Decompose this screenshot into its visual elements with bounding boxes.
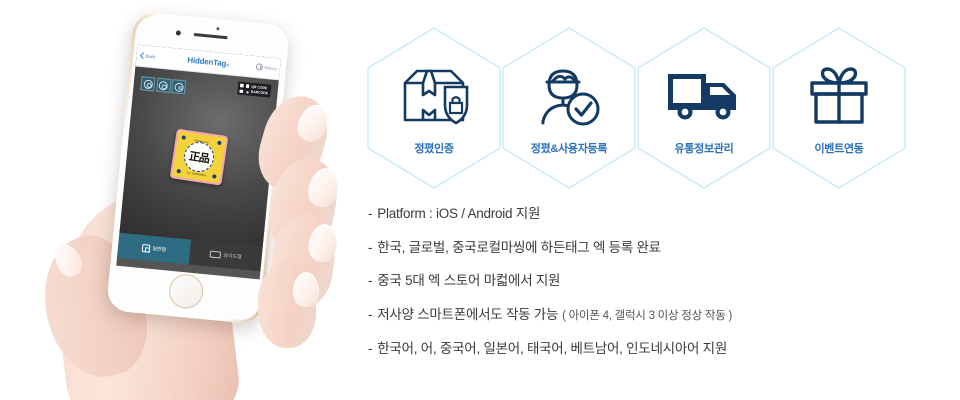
feature-label-authentication: 정폈인증: [366, 140, 502, 156]
spec-dash: -: [368, 240, 372, 256]
finger-nail: [293, 272, 319, 307]
feature-item-distribution[interactable]: 유통정보관리: [636, 26, 772, 190]
spec-text: 저사양 스마트폰에서도 작동 가능: [377, 307, 558, 323]
feature-label-user-registration: 정폈&사용자등록: [501, 140, 637, 156]
spec-note: ( 아이폰 4, 갤럭시 3 이상 정상 작동 ): [562, 308, 732, 324]
spec-item: - 중국 5대 엑 스토어 마컯에서 지원: [368, 273, 948, 289]
spec-dash: -: [368, 307, 372, 323]
hand-fingers: [0, 0, 360, 400]
feature-label-event-link: 이벤트연동: [771, 140, 907, 156]
feature-label-distribution: 유통정보관리: [636, 140, 772, 156]
delivery-truck-icon: [636, 60, 772, 132]
spec-dash: -: [368, 341, 372, 357]
feature-item-event-link[interactable]: 이벤트연동: [771, 26, 907, 190]
spec-item: - 한국, 글로벌, 중국로컬마씽에 하든태그 엑 등록 완료: [368, 240, 948, 256]
spec-list: - Platform : iOS / Android 지원 - 한국, 글로벌,…: [368, 206, 948, 375]
product-feature-page: Back HiddenTag ® History: [0, 0, 960, 400]
spec-item: - Platform : iOS / Android 지원: [368, 206, 948, 222]
spec-item: - 한국어, 어, 중국어, 일본어, 태국어, 베트남어, 인도네시아어 지원: [368, 341, 948, 357]
feature-item-user-registration[interactable]: 정폈&사용자등록: [501, 26, 637, 190]
box-shield-lock-icon: [366, 60, 502, 132]
spec-text: 중국 5대 엑 스토어 마컯에서 지원: [377, 273, 560, 289]
user-check-icon: [501, 60, 637, 132]
feature-hexagon-row: 정폈인증: [366, 26, 926, 194]
gift-box-icon: [771, 60, 907, 132]
spec-dash: -: [368, 273, 372, 289]
spec-dash: -: [368, 206, 372, 222]
spec-text: 한국, 글로벌, 중국로컬마씽에 하든태그 엑 등록 완료: [377, 240, 661, 256]
phone-in-hand-showcase: Back HiddenTag ® History: [0, 0, 360, 400]
spec-text: Platform : iOS / Android 지원: [377, 206, 540, 222]
spec-text: 한국어, 어, 중국어, 일본어, 태국어, 베트남어, 인도네시아어 지원: [377, 341, 727, 357]
spec-item: - 저사양 스마트폰에서도 작동 가능 ( 아이폰 4, 갤럭시 3 이상 정상…: [368, 307, 948, 324]
feature-item-authentication[interactable]: 정폈인증: [366, 26, 502, 190]
